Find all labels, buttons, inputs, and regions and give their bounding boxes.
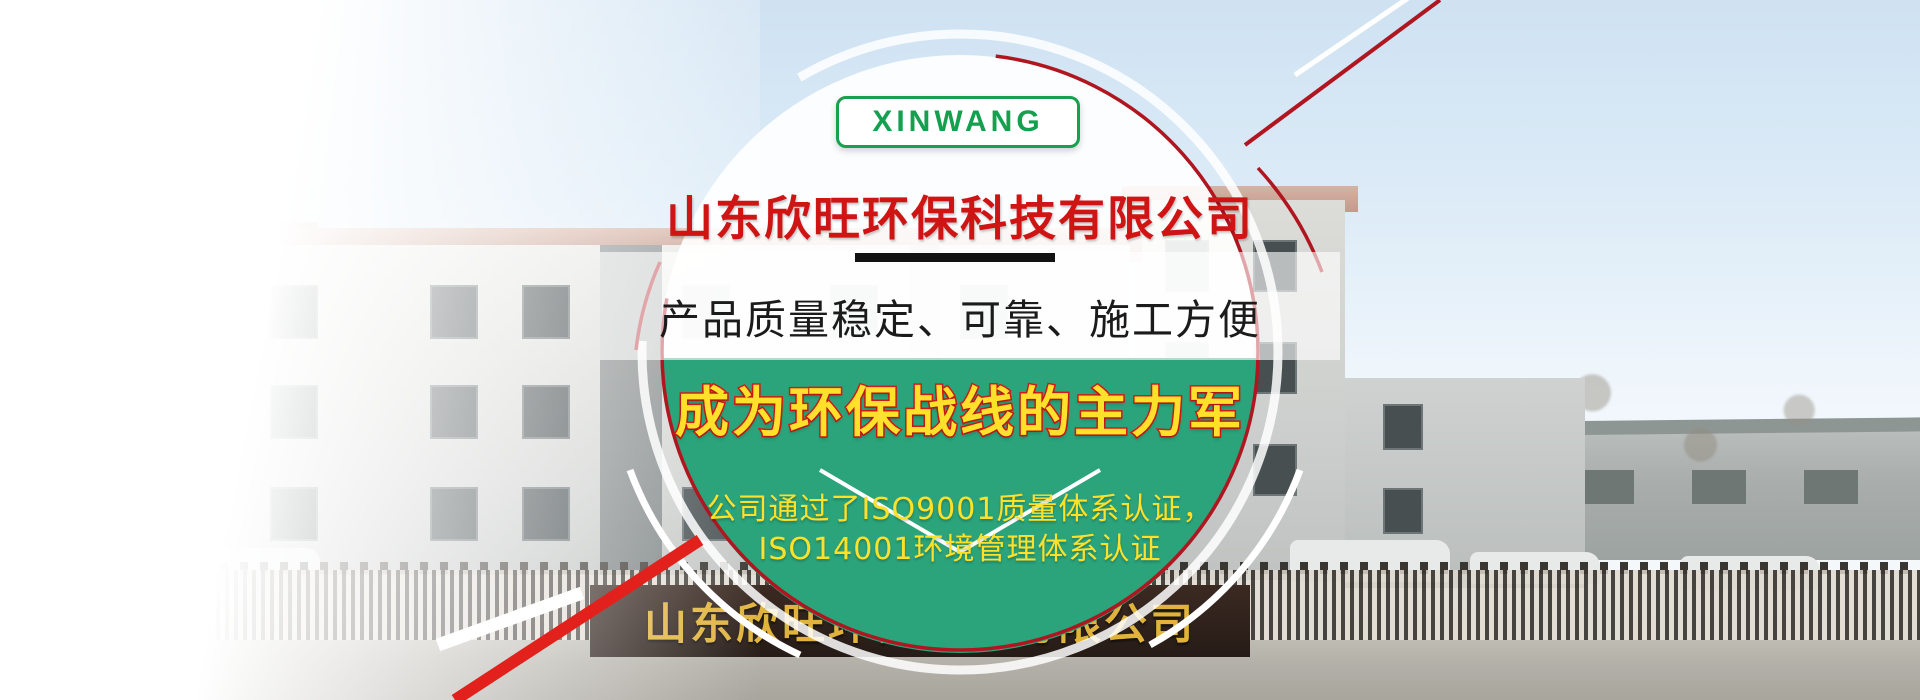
title-divider-rule bbox=[855, 253, 1055, 262]
hero-banner: 山东欣旺环保科技有限公司 bbox=[0, 0, 1920, 700]
banner-content: XINWANG 山东欣旺环保科技有限公司 产品质量稳定、可靠、施工方便 成为环保… bbox=[0, 0, 1920, 700]
banner-subtitle: 产品质量稳定、可靠、施工方便 bbox=[0, 286, 1920, 346]
certification-text: 公司通过了ISO9001质量体系认证， ISO14001环境管理体系认证 bbox=[0, 490, 1920, 570]
logo-badge[interactable]: XINWANG bbox=[836, 96, 1080, 148]
banner-headline: 成为环保战线的主力军 bbox=[0, 368, 1920, 447]
certification-line-1: 公司通过了ISO9001质量体系认证， bbox=[0, 490, 1920, 530]
company-name: 山东欣旺环保科技有限公司 bbox=[0, 180, 1920, 249]
certification-line-2: ISO14001环境管理体系认证 bbox=[0, 530, 1920, 570]
logo-text: XINWANG bbox=[872, 105, 1043, 139]
